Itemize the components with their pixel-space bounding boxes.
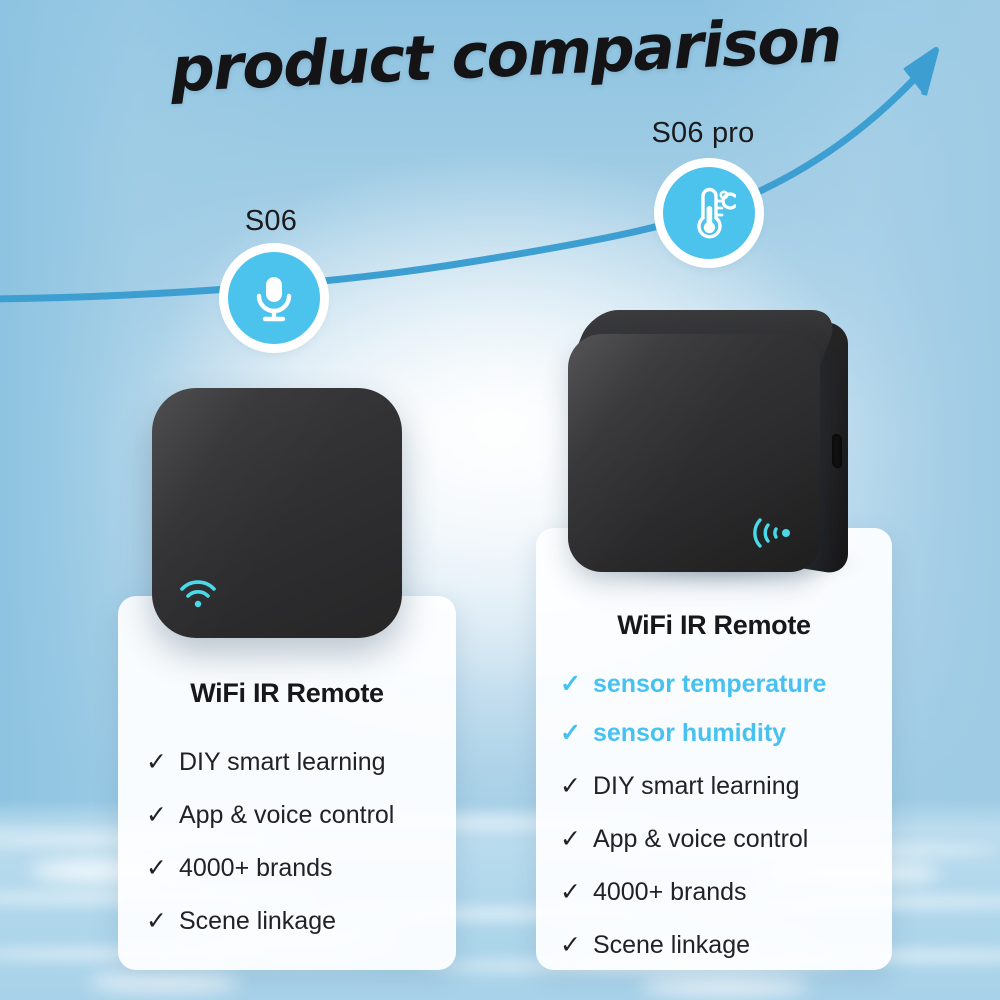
wifi-signal-icon [752,516,794,550]
microphone-icon [251,273,297,323]
check-icon: ✓ [560,827,581,852]
feature-label: sensor temperature [593,670,826,699]
list-item: ✓ DIY smart learning [560,772,880,801]
product-card-s06-pro: WiFi IR Remote ✓ sensor temperature ✓ se… [536,528,892,970]
marker-badge-s06[interactable] [228,252,320,344]
list-item: ✓ 4000+ brands [560,878,880,907]
list-item: ✓ App & voice control [560,825,880,854]
list-item: ✓ sensor humidity [560,719,880,748]
check-icon: ✓ [146,750,167,775]
check-icon: ✓ [146,909,167,934]
feature-label: Scene linkage [179,907,336,936]
wifi-icon [178,578,218,610]
list-item: ✓ App & voice control [146,801,440,830]
product-card-s06: WiFi IR Remote ✓ DIY smart learning ✓ Ap… [118,596,456,970]
feature-list-s06: ✓ DIY smart learning ✓ App & voice contr… [146,748,440,936]
list-item: ✓ Scene linkage [560,931,880,960]
product-comparison-infographic: S06 S06 pro product comparison WiFi IR R… [0,0,1000,1000]
thermometer-celsius-icon [682,186,736,240]
device-image-s06-pro [556,306,866,586]
check-icon: ✓ [146,856,167,881]
marker-badge-s06-pro[interactable] [663,167,755,259]
list-item: ✓ DIY smart learning [146,748,440,777]
marker-label-s06: S06 [196,205,346,238]
device-image-s06 [152,388,402,638]
check-icon: ✓ [146,803,167,828]
feature-label: App & voice control [593,825,808,854]
feature-label: sensor humidity [593,719,786,748]
check-icon: ✓ [560,672,581,697]
feature-label: DIY smart learning [179,748,386,777]
list-item: ✓ Scene linkage [146,907,440,936]
feature-label: Scene linkage [593,931,750,960]
feature-label: DIY smart learning [593,772,800,801]
check-icon: ✓ [560,880,581,905]
check-icon: ✓ [560,721,581,746]
feature-label: App & voice control [179,801,394,830]
card-title-s06-pro: WiFi IR Remote [536,610,892,641]
feature-list-s06-pro: ✓ sensor temperature ✓ sensor humidity ✓… [560,670,880,960]
device-front-face [568,334,820,572]
marker-label-s06-pro: S06 pro [628,117,778,150]
check-icon: ✓ [560,774,581,799]
list-item: ✓ sensor temperature [560,670,880,699]
usb-port [832,433,842,469]
feature-label: 4000+ brands [593,878,747,907]
card-title-s06: WiFi IR Remote [118,678,456,709]
check-icon: ✓ [560,933,581,958]
list-item: ✓ 4000+ brands [146,854,440,883]
feature-label: 4000+ brands [179,854,333,883]
